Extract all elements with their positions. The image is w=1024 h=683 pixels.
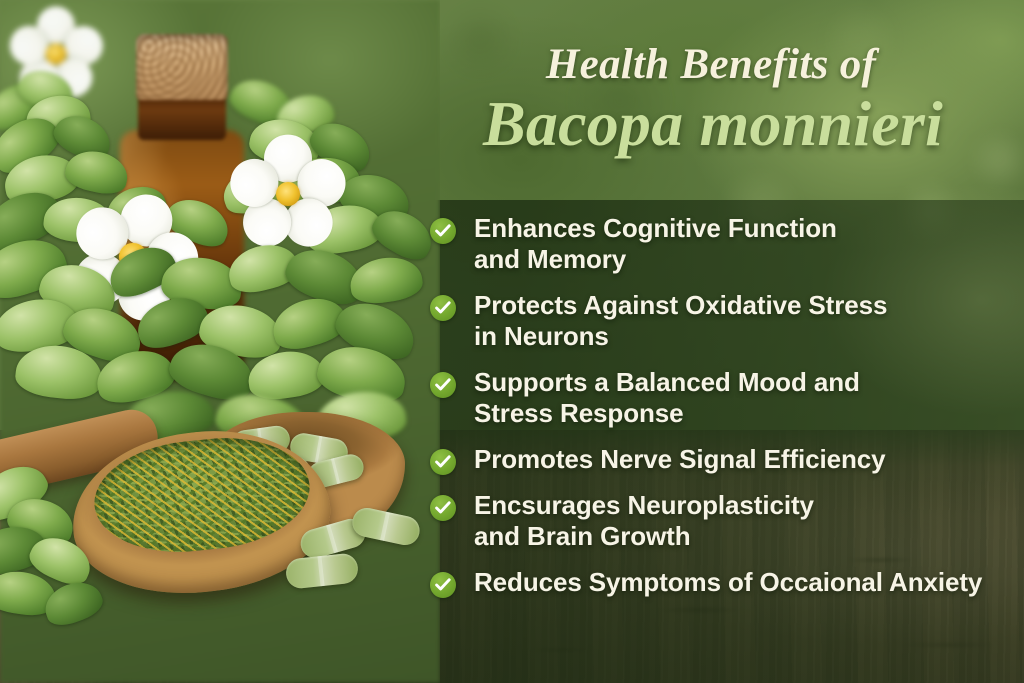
benefit-item-6: Reduces Symptoms of Occaional Anxiety: [430, 567, 1022, 598]
page-title: Health Benefits of Bacopa monnieri: [412, 40, 1024, 160]
bacopa-plant-photo: [0, 0, 440, 683]
title-line-1: Health Benefits of: [412, 40, 1024, 90]
benefit-item-4: Promotes Nerve Signal Efficiency: [430, 444, 1022, 475]
cork-stopper: [136, 34, 228, 100]
title-line-2: Bacopa monnieri: [412, 88, 1024, 160]
content-column: Health Benefits of Bacopa monnieri Enhan…: [412, 0, 1024, 683]
check-circle-icon: [430, 572, 456, 598]
benefit-item-1: Enhances Cognitive Function and Memory: [430, 213, 1022, 275]
benefit-item-3: Supports a Balanced Mood and Stress Resp…: [430, 367, 1022, 429]
benefit-label: Encsurages Neuroplasticity and Brain Gro…: [474, 490, 814, 552]
bottle-neck: [138, 94, 226, 140]
check-circle-icon: [430, 372, 456, 398]
benefit-item-2: Protects Against Oxidative Stress in Neu…: [430, 290, 1022, 352]
benefit-item-5: Encsurages Neuroplasticity and Brain Gro…: [430, 490, 1022, 552]
benefit-label: Protects Against Oxidative Stress in Neu…: [474, 290, 887, 352]
check-circle-icon: [430, 295, 456, 321]
benefits-list: Enhances Cognitive Function and Memory P…: [430, 213, 1022, 598]
check-circle-icon: [430, 218, 456, 244]
infographic-poster: Health Benefits of Bacopa monnieri Enhan…: [0, 0, 1024, 683]
bacopa-flower-right: [236, 142, 340, 246]
benefit-label: Reduces Symptoms of Occaional Anxiety: [474, 567, 982, 598]
check-circle-icon: [430, 495, 456, 521]
benefit-label: Supports a Balanced Mood and Stress Resp…: [474, 367, 860, 429]
check-circle-icon: [430, 449, 456, 475]
benefit-label: Enhances Cognitive Function and Memory: [474, 213, 837, 275]
benefit-label: Promotes Nerve Signal Efficiency: [474, 444, 886, 475]
